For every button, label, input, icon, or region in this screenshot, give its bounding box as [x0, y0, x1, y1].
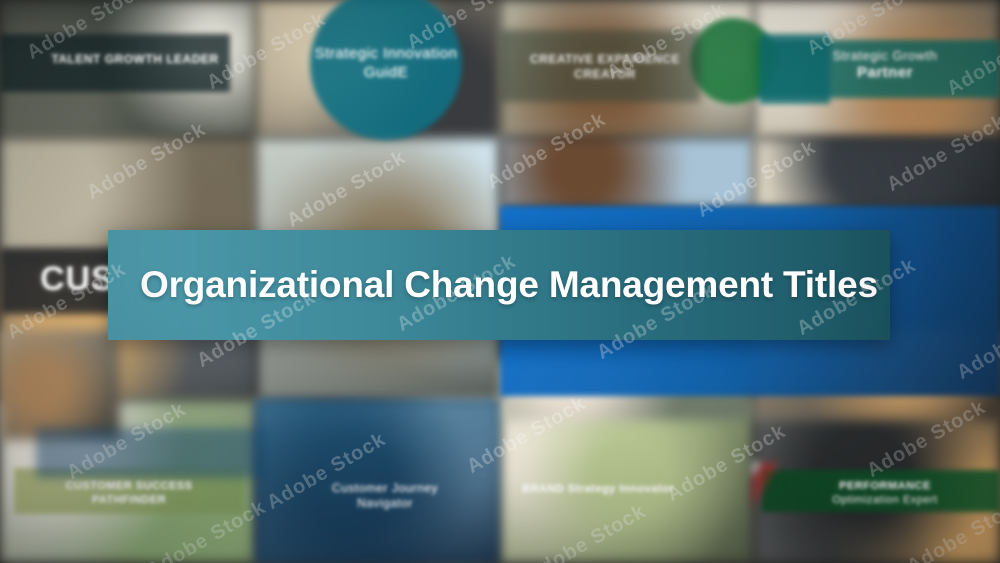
label-creative-experience-line2: CREATOR: [574, 67, 636, 81]
label-creative-experience-creator: CREATIVE EXPERIENCE CREATOR: [500, 52, 710, 82]
title-banner: Organizational Change Management Titles: [108, 230, 890, 340]
blue-band-bottom-left: [36, 428, 266, 478]
collage-tile-12: [500, 400, 754, 563]
label-customer-journey-line2: Navigator: [357, 496, 413, 510]
label-strategic-growth-line2: Partner: [857, 64, 913, 81]
label-strategic-growth-partner: Strategic Growth Partner: [800, 48, 970, 83]
label-creative-experience-line1: CREATIVE EXPERIENCE: [530, 52, 680, 66]
label-strategic-innovation-line1: Strategic Innovation: [315, 45, 458, 62]
label-customer-success-line2: PATHFINDER: [92, 494, 166, 506]
label-performance-line1: PERFORMANCE: [839, 480, 931, 492]
diagonal-ribbon-accent: [752, 462, 786, 520]
label-customer-journey-navigator: Customer Journey Navigator: [285, 481, 485, 511]
label-performance-optimization-expert: PERFORMANCE Optimization Expert: [790, 480, 980, 508]
stock-image-canvas: TALENT GROWTH LEADER Strategic Innovatio…: [0, 0, 1000, 563]
label-performance-line2: Optimization Expert: [832, 494, 937, 506]
label-strategic-growth-line1: Strategic Growth: [833, 48, 938, 63]
label-customer-success-pathfinder: CUSTOMER SUCCESS PATHFINDER: [24, 480, 234, 508]
collage-tile-7: [500, 138, 754, 208]
collage-tile-8: [754, 138, 1000, 208]
label-talent-growth-leader: TALENT GROWTH LEADER: [40, 52, 230, 67]
label-customer-truncated-text: CUS: [40, 260, 115, 298]
label-brand-strategy-innovator: BRAND Strategy Innovator: [522, 483, 732, 497]
label-strategic-innovation-guide: Strategic Innovation GuidE: [296, 45, 476, 83]
page-title: Organizational Change Management Titles: [140, 264, 878, 306]
label-customer-success-line1: CUSTOMER SUCCESS: [66, 480, 193, 492]
label-customer-journey-line1: Customer Journey: [332, 481, 438, 495]
label-talent-growth-leader-text: TALENT GROWTH LEADER: [51, 52, 218, 66]
collage-tile-16: [0, 330, 120, 440]
label-strategic-innovation-line2: GuidE: [364, 64, 408, 81]
label-brand-strategy-text: BRAND Strategy Innovator: [522, 483, 674, 495]
